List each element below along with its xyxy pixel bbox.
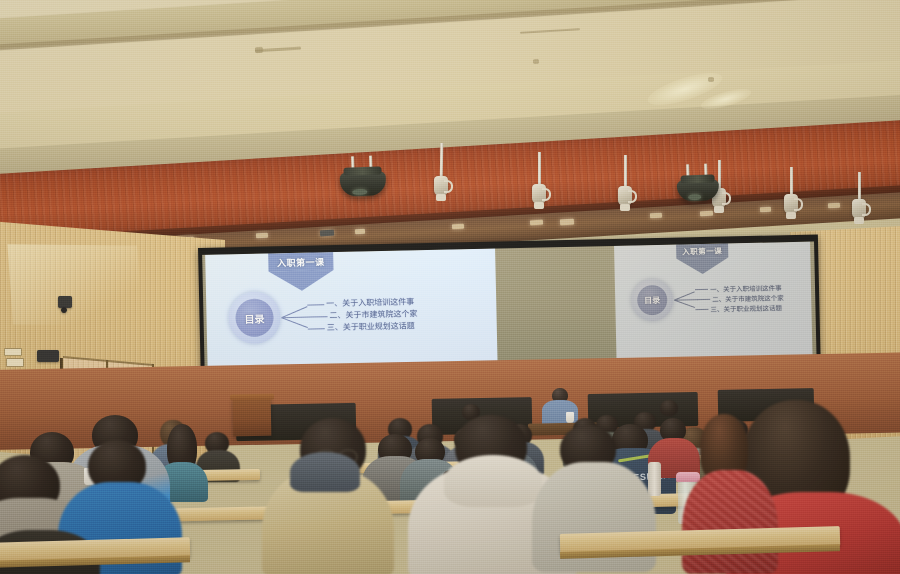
recessed-light bbox=[760, 207, 771, 213]
right-projection: 入职第一课 目录 一、关于入职培训这件事 二、关于市建筑院这个家 三、关于职业规… bbox=[614, 242, 812, 361]
toc-item-dash bbox=[311, 316, 328, 317]
toc-item-dash bbox=[697, 299, 710, 300]
stage-light-head bbox=[434, 176, 448, 196]
lecture-hall-photo: 入职第一课 目录 一、关于入职培训这件事 二、关于市建筑院这个家 三、关于职业规… bbox=[0, 0, 900, 574]
light-suspension-rod bbox=[624, 155, 627, 189]
toc-item: 一、关于入职培训这件事 bbox=[326, 296, 414, 309]
slide-banner: 入职第一课 bbox=[268, 252, 333, 271]
camera-lens-icon bbox=[61, 307, 67, 313]
toc-connector-line bbox=[674, 300, 695, 308]
toc-item-dash bbox=[695, 289, 708, 290]
stage-light-head bbox=[852, 199, 866, 219]
ceiling-sprinkler-icon bbox=[255, 47, 263, 53]
stage-light-head bbox=[618, 186, 632, 206]
left-projection: 入职第一课 目录 一、关于入职培训这件事 二、关于市建筑院这个家 三、关于职业规… bbox=[205, 249, 497, 370]
recessed-light bbox=[355, 229, 365, 235]
ceiling-sprinkler-icon bbox=[708, 77, 714, 82]
light-suspension-rod bbox=[538, 152, 541, 188]
wall-junction-box bbox=[37, 350, 59, 362]
toc-item-dash bbox=[695, 309, 708, 310]
ceiling-speaker-grille bbox=[320, 230, 334, 237]
water-bottle bbox=[648, 462, 661, 496]
podium-top bbox=[230, 394, 274, 401]
toc-item: 三、关于职业规划这话题 bbox=[327, 320, 415, 333]
bottle-cap bbox=[676, 472, 700, 482]
wall-outlet[interactable] bbox=[6, 358, 24, 367]
podium bbox=[233, 398, 272, 437]
recessed-light bbox=[700, 211, 713, 217]
ceiling-sprinkler-icon bbox=[533, 59, 539, 64]
wall-outlet[interactable] bbox=[4, 348, 22, 356]
audience-body-red-pattern bbox=[682, 470, 778, 574]
slide-banner-title: 入职第一课 bbox=[676, 245, 728, 257]
toc-item-dash bbox=[307, 304, 324, 305]
slide-banner-title: 入职第一课 bbox=[268, 255, 333, 269]
toc-item-dash bbox=[308, 328, 325, 329]
jacket-hood bbox=[290, 452, 360, 492]
slide-banner: 入职第一课 bbox=[676, 243, 728, 258]
recessed-light bbox=[452, 224, 464, 230]
audience-head bbox=[660, 400, 678, 416]
hoodie-hood bbox=[444, 455, 542, 507]
recessed-light bbox=[530, 220, 543, 226]
toc-item: 二、关于市建筑院这个家 bbox=[329, 308, 417, 321]
toc-item: 三、关于职业规划这话题 bbox=[710, 302, 782, 314]
toc-connector-line bbox=[281, 317, 308, 328]
stage-light-head bbox=[784, 194, 798, 214]
recessed-light bbox=[560, 219, 574, 226]
recessed-light bbox=[828, 203, 840, 209]
paper-cup bbox=[566, 412, 574, 423]
recessed-light bbox=[256, 233, 268, 239]
stage-light-head bbox=[532, 184, 546, 204]
recessed-light bbox=[650, 213, 662, 219]
screen-surface: 入职第一课 目录 一、关于入职培训这件事 二、关于市建筑院这个家 三、关于职业规… bbox=[202, 242, 816, 370]
